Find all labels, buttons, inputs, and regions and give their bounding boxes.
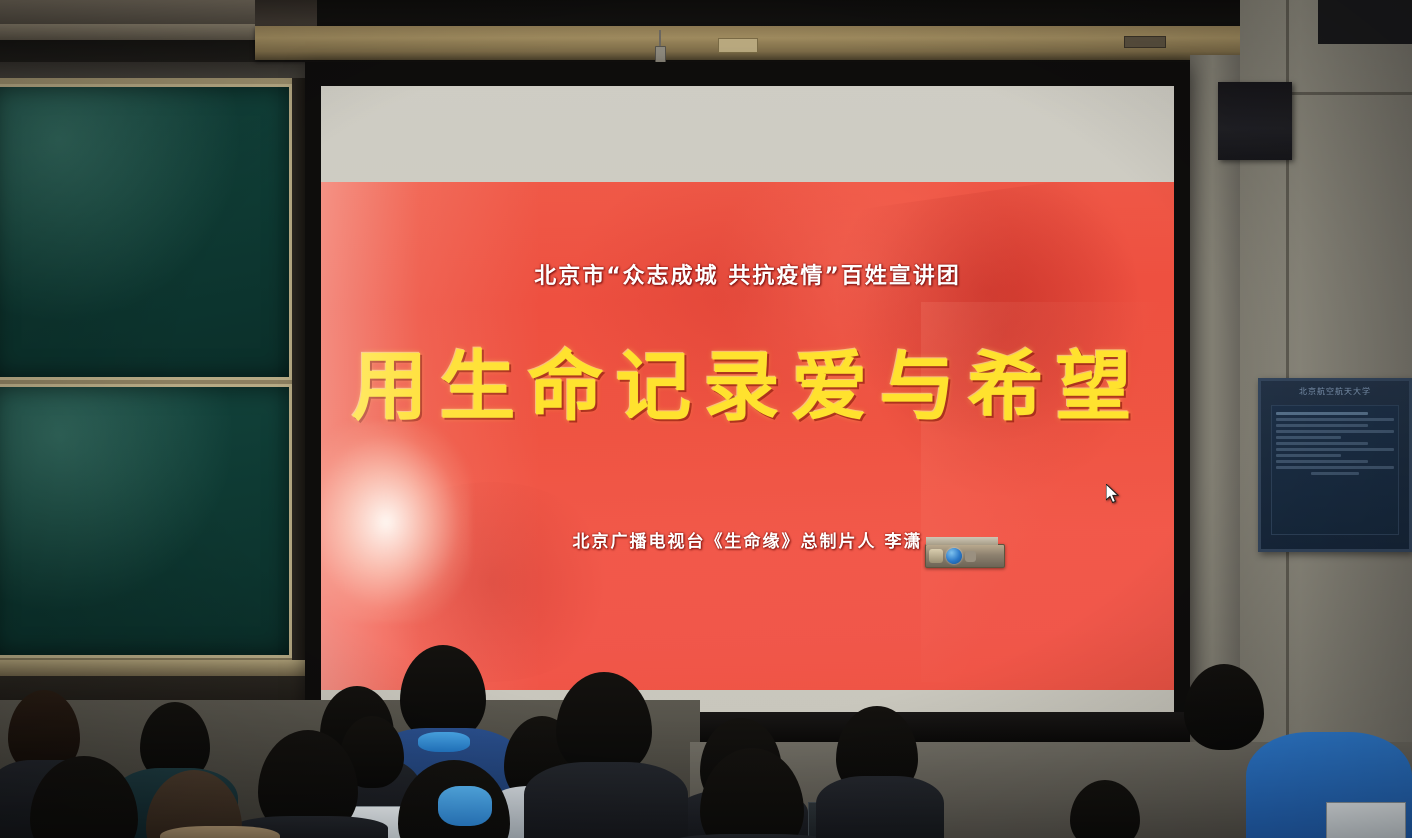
chalkboard [0,78,316,668]
audience [0,620,1412,838]
floating-ime-toolbar[interactable] [925,544,1005,568]
sign-text-line [1276,436,1341,439]
laptop-screen[interactable] [1326,802,1406,838]
lecture-hall-photo: 北京市“众志成城 共抗疫情”百姓宣讲团 用生命记录爱与希望 北京广播电视台《生命… [0,0,1412,838]
beam-label-tag-right [1124,36,1166,48]
hand-icon[interactable] [929,549,943,563]
sign-text-line [1276,424,1368,427]
projector-glare-hotspot [321,422,471,622]
sign-text-line [1276,454,1341,457]
audience-head [1184,664,1264,750]
wall-sign-text-block [1271,405,1399,535]
sign-text-line [1276,442,1368,445]
small-tool-icon[interactable] [965,551,976,562]
sign-text-line [1276,430,1394,433]
sign-text-line [1276,448,1394,451]
wall-sign-header: 北京航空航天大学 [1261,386,1409,397]
audience-body [160,826,280,838]
chalkboard-panel-upper [0,84,292,380]
audience-head [400,645,486,741]
audience-head [1070,780,1140,838]
sign-text-line [1311,472,1358,475]
toolbar-drag-handle[interactable] [926,537,998,545]
sign-text-line [1276,412,1368,415]
sign-text-line [1276,466,1394,469]
audience-scarf [438,786,492,826]
audience-body [816,776,944,838]
audience-head [556,672,652,776]
beam-label-tag [718,38,758,53]
ceiling-beam [255,26,1265,60]
audience-collar [418,732,470,752]
sign-text-line [1276,418,1394,421]
sign-text-line [1276,460,1368,463]
wall-information-sign: 北京航空航天大学 [1258,378,1412,552]
presentation-slide: 北京市“众志成城 共抗疫情”百姓宣讲团 用生命记录爱与希望 北京广播电视台《生命… [321,182,1174,690]
audience-body [524,762,688,838]
browser-globe-icon[interactable] [946,548,962,564]
chalkboard-panel-lower [0,384,292,658]
wall-speaker [1218,82,1292,160]
ceiling-pipe-secondary [0,24,258,40]
ceiling-pipe [0,0,270,26]
upper-right-wall-panel [1318,0,1412,44]
